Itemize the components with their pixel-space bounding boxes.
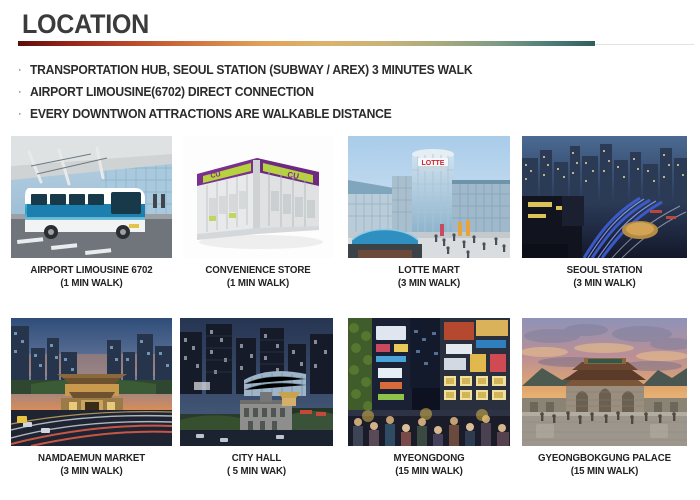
gallery-caption-distance: (15 MIN WALK) (348, 466, 510, 479)
gallery-card-lotte-mart[interactable]: LOTTE (348, 136, 510, 290)
gallery-caption: NAMDAEMUN MARKET (3 MIN WALK) (11, 453, 172, 478)
seoul-station-night-aerial-photo (522, 136, 687, 258)
gallery-caption-distance: (15 MIN WALK) (522, 466, 687, 479)
gallery-card-convenience-store[interactable]: CU CU (183, 136, 333, 290)
gallery-caption-distance: ( 5 MIN WAK) (180, 466, 333, 479)
gallery-card-gyeongbokgung-palace[interactable]: GYEONGBOKGUNG PALACE (15 MIN WALK) (522, 318, 687, 478)
gallery-caption: AIRPORT LIMOUSINE 6702 (1 MIN WALK) (11, 265, 172, 290)
gallery-caption-distance: (3 MIN WALK) (522, 278, 687, 291)
bullet-text-3: EVERY DOWNTWON ATTRACTIONS ARE WALKABLE … (30, 104, 392, 124)
gallery-card-airport-limousine[interactable]: AIRPORT LIMOUSINE 6702 (1 MIN WALK) (11, 136, 172, 290)
myeongdong-street-night-photo (348, 318, 510, 446)
gallery-caption-distance: (1 MIN WALK) (11, 278, 172, 291)
gallery-caption-distance: (3 MIN WALK) (348, 278, 510, 291)
gallery-caption-distance: (3 MIN WALK) (11, 466, 172, 479)
bullet-text-2: AIRPORT LIMOUSINE(6702) DIRECT CONNECTIO… (30, 82, 314, 102)
bullet-marker-icon: · (18, 104, 30, 124)
location-gallery: AIRPORT LIMOUSINE 6702 (1 MIN WALK) CU (0, 136, 700, 470)
gallery-caption-name: CITY HALL (232, 453, 282, 464)
gallery-caption-distance: (1 MIN WALK) (183, 278, 333, 291)
svg-text:LOTTE: LOTTE (422, 160, 445, 167)
divider-gradient-bar (18, 41, 595, 46)
bullet-marker-icon: · (18, 60, 30, 80)
gallery-card-seoul-station[interactable]: SEOUL STATION (3 MIN WALK) (522, 136, 687, 290)
gallery-caption-name: SEOUL STATION (567, 265, 643, 276)
bullet-item-2: · AIRPORT LIMOUSINE(6702) DIRECT CONNECT… (18, 82, 678, 104)
bullet-item-3: · EVERY DOWNTWON ATTRACTIONS ARE WALKABL… (18, 104, 678, 126)
bullet-item-1: · TRANSPORTATION HUB, SEOUL STATION (SUB… (18, 60, 678, 82)
bullet-marker-icon: · (18, 82, 30, 102)
gallery-caption: LOTTE MART (3 MIN WALK) (348, 265, 510, 290)
cu-convenience-store-photo: CU CU (183, 136, 333, 258)
airport-limousine-bus-photo (11, 136, 172, 258)
gallery-caption: CONVENIENCE STORE (1 MIN WALK) (183, 265, 333, 290)
seoul-city-hall-aerial-photo (180, 318, 333, 446)
gallery-caption-name: GYEONGBOKGUNG PALACE (538, 453, 671, 464)
gallery-card-namdaemun-market[interactable]: NAMDAEMUN MARKET (3 MIN WALK) (11, 318, 172, 478)
gyeongbokgung-palace-sunset-photo (522, 318, 687, 446)
gallery-card-myeongdong[interactable]: MYEONGDONG (15 MIN WALK) (348, 318, 510, 478)
gallery-caption-name: LOTTE MART (398, 265, 459, 276)
gallery-caption-name: MYEONGDONG (393, 453, 464, 464)
gallery-caption-name: NAMDAEMUN MARKET (38, 453, 145, 464)
feature-bullet-list: · TRANSPORTATION HUB, SEOUL STATION (SUB… (18, 60, 678, 126)
gallery-row-1: AIRPORT LIMOUSINE 6702 (1 MIN WALK) CU (0, 136, 700, 288)
page-title: LOCATION (22, 9, 149, 39)
gallery-caption-name: AIRPORT LIMOUSINE 6702 (30, 265, 152, 276)
bullet-text-1: TRANSPORTATION HUB, SEOUL STATION (SUBWA… (30, 60, 472, 80)
gallery-caption-name: CONVENIENCE STORE (205, 265, 310, 276)
title-divider (0, 41, 700, 47)
gallery-row-2: NAMDAEMUN MARKET (3 MIN WALK) (0, 318, 700, 470)
namdaemun-gate-night-photo (11, 318, 172, 446)
gallery-card-city-hall[interactable]: CITY HALL ( 5 MIN WAK) (180, 318, 333, 478)
gallery-caption: CITY HALL ( 5 MIN WAK) (180, 453, 333, 478)
gallery-caption: MYEONGDONG (15 MIN WALK) (348, 453, 510, 478)
gallery-caption: SEOUL STATION (3 MIN WALK) (522, 265, 687, 290)
lotte-mart-building-photo: LOTTE (348, 136, 510, 258)
gallery-caption: GYEONGBOKGUNG PALACE (15 MIN WALK) (522, 453, 687, 478)
